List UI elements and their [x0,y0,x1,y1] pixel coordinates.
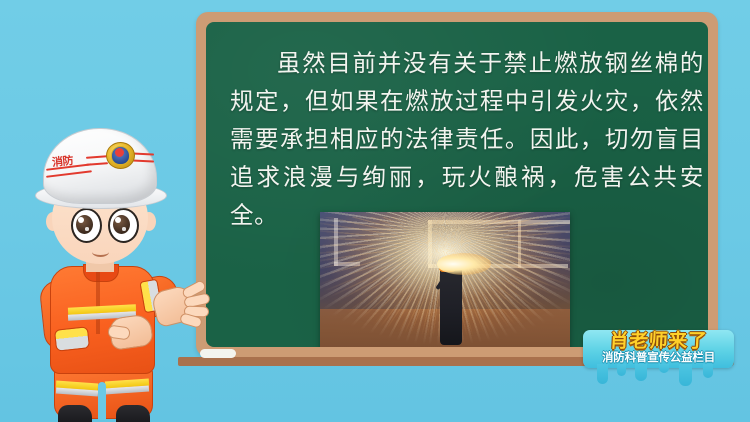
screenshot-root: 虽然目前并没有关于禁止燃放钢丝棉的规定，但如果在燃放过程中引发火灾，依然需要承担… [0,0,750,422]
logo-drip-5 [679,364,692,386]
logo-drip-1 [597,364,608,384]
mascot-cuff-left [54,326,90,351]
logo-subtitle: 消防科普宣传公益栏目 [583,349,734,365]
mascot-eye-glint-small-right [122,227,126,231]
mascot-boot-left [58,405,92,422]
logo-drip-3 [635,364,647,381]
blackboard: 虽然目前并没有关于禁止燃放钢丝棉的规定，但如果在燃放过程中引发火灾，依然需要承担… [196,12,718,357]
blackboard-caption-text: 虽然目前并没有关于禁止燃放钢丝棉的规定，但如果在燃放过程中引发火灾，依然需要承担… [230,44,704,234]
mascot-mouth [92,247,109,257]
mascot-boot-right [116,405,150,422]
mascot-leg-separation [98,382,106,420]
logo-drip-6 [703,364,713,378]
program-logo: 肖老师来了 消防科普宣传公益栏目 [583,326,734,386]
blackboard-surface: 虽然目前并没有关于禁止燃放钢丝棉的规定，但如果在燃放过程中引发火灾，依然需要承担… [206,22,708,347]
mascot-jacket-placket [96,272,100,334]
firefighter-mascot: 消防 [10,120,215,422]
mascot-helmet-label: 消防 [51,152,74,170]
embedded-video-clip[interactable] [320,212,570,347]
logo-drip-4 [659,364,669,373]
mascot-eye-glint-left [78,217,84,223]
mascot-helmet-badge-emblem [115,148,124,157]
logo-drip-2 [617,364,626,376]
mascot-eye-glint-small-left [85,227,89,231]
mascot-eye-glint-right [115,217,121,223]
